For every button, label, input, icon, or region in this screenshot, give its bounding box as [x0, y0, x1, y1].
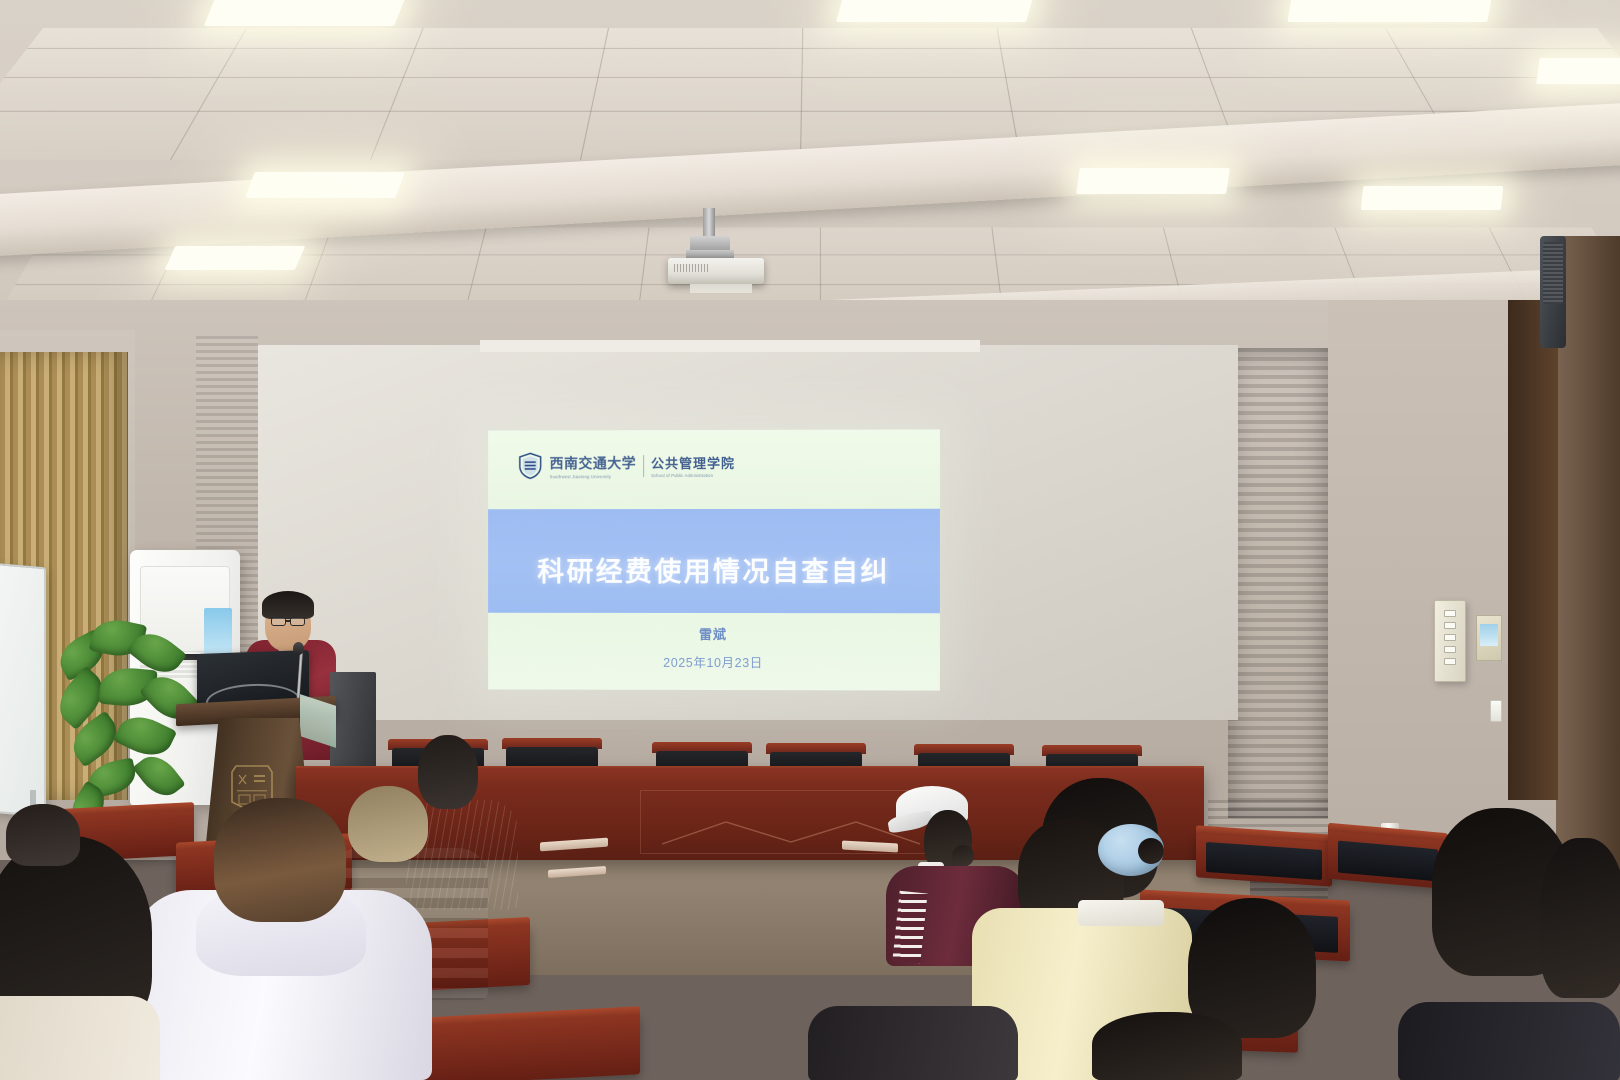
- air-conditioner-label: [204, 608, 232, 654]
- attendee-collar: [1078, 900, 1164, 926]
- whiteboard: [0, 563, 46, 818]
- wall-speaker-grille: [1543, 242, 1563, 304]
- hair-bun: [1138, 838, 1164, 864]
- projector-label: [690, 284, 752, 293]
- bench-seat-row: [420, 1014, 640, 1080]
- circuit-breaker: [1444, 610, 1456, 617]
- ceiling-light: [165, 246, 306, 270]
- logo-university-cn: 西南交通大学: [550, 453, 637, 473]
- logo-school-cn: 公共管理学院: [651, 453, 735, 472]
- slide-title: 科研经费使用情况自查自纠: [488, 550, 940, 589]
- attendee-head: [1092, 1012, 1242, 1080]
- shield-icon: [518, 452, 543, 479]
- ceiling-light: [1287, 0, 1492, 22]
- ceiling-light: [1076, 168, 1230, 194]
- circuit-breaker: [1444, 634, 1456, 641]
- lecture-hall-photo: 西南交通大学 Southwest Jiaotong University 公共管…: [0, 0, 1620, 1080]
- attendee-head: [1540, 838, 1620, 998]
- wall-sign-graphic: [1480, 624, 1498, 646]
- attendee-head: [6, 804, 80, 866]
- attendee-head: [214, 798, 346, 922]
- ceiling-light: [1361, 186, 1504, 210]
- wood-panel-right: [1228, 348, 1328, 818]
- projector-vent: [674, 264, 708, 272]
- ceiling-light: [245, 172, 404, 198]
- attendee-torso: [0, 996, 160, 1080]
- ceiling-light: [204, 0, 406, 26]
- slide-date: 2025年10月23日: [488, 652, 940, 672]
- projection-screen-valance: [480, 340, 980, 352]
- university-logo: 西南交通大学 Southwest Jiaotong University 公共管…: [518, 452, 735, 479]
- attendee-torso: [808, 1006, 1018, 1080]
- projector-mount-pole: [703, 208, 715, 238]
- light-switch[interactable]: [1490, 700, 1502, 722]
- eyeglasses-icon: [290, 617, 305, 626]
- ceiling-light: [836, 0, 1034, 22]
- right-doorway: [1508, 300, 1558, 800]
- attendee-torso: [1398, 1002, 1620, 1080]
- eyeglasses-bridge: [286, 620, 290, 622]
- circuit-breaker: [1444, 622, 1456, 629]
- projected-slide: 西南交通大学 Southwest Jiaotong University 公共管…: [488, 429, 940, 690]
- circuit-breaker: [1444, 646, 1456, 653]
- microphone-capsule-icon: [293, 642, 304, 655]
- hair-bun: [952, 845, 974, 867]
- presenter-hair: [262, 591, 314, 619]
- attendee-head: [348, 786, 428, 862]
- logo-divider: [643, 455, 644, 477]
- eyeglasses-icon: [271, 617, 286, 626]
- slide-speaker-name: 雷斌: [488, 624, 940, 644]
- attendee-head: [418, 735, 478, 809]
- logo-university-en: Southwest Jiaotong University: [550, 474, 637, 479]
- ceiling-light: [1536, 58, 1620, 84]
- circuit-breaker: [1444, 658, 1456, 665]
- logo-school-en: School of Public Administration: [651, 473, 735, 478]
